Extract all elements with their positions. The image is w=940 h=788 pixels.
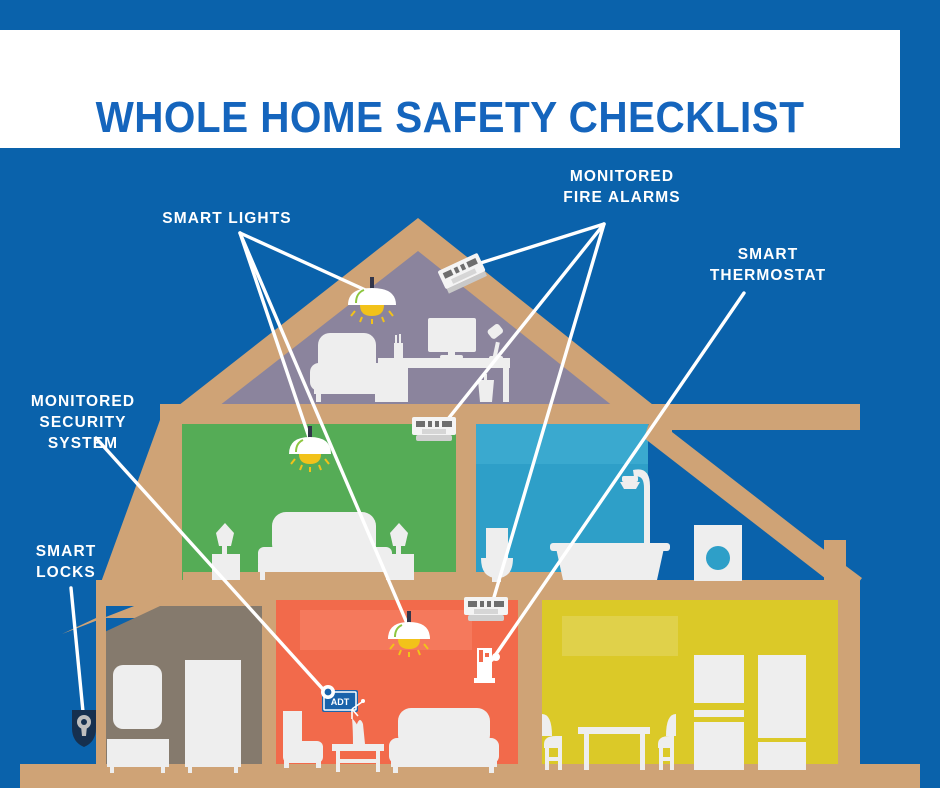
- wall-right-lower: [838, 596, 860, 776]
- garage-dryer: [185, 660, 241, 773]
- living-sofa: [389, 708, 499, 773]
- bathroom-wall-band: [474, 424, 648, 464]
- wall-left-lower: [96, 596, 106, 776]
- garage-washer: [113, 665, 162, 729]
- page-title: WHOLE HOME SAFETY CHECKLIST: [36, 59, 864, 177]
- kitchen-wall-band: [562, 616, 678, 656]
- callout-monitored-fire-alarms: MONITORED FIRE ALARMS: [563, 166, 680, 208]
- callout-monitored-security-system: MONITORED SECURITY SYSTEM: [31, 391, 135, 454]
- smoke-detector-living[interactable]: [464, 597, 508, 621]
- wall-right-upper: [824, 540, 846, 600]
- washing-machine: [694, 525, 742, 581]
- callout-smart-thermostat: SMART THERMOSTAT: [710, 244, 826, 286]
- attic-trash-bin: [478, 380, 494, 402]
- kitchen-oven: [694, 655, 744, 770]
- smoke-detector-bedroom[interactable]: [412, 417, 456, 441]
- wall-living-kitchen: [518, 596, 542, 776]
- security-panel-brand: ADT: [331, 697, 350, 707]
- attic-armchair: [310, 333, 386, 402]
- callout-smart-locks: SMART LOCKS: [36, 541, 97, 583]
- wall-left-upper: [160, 404, 182, 584]
- kitchen-refrigerator: [758, 655, 806, 770]
- bed: [258, 512, 392, 580]
- living-wall-band: [300, 610, 472, 650]
- wall-mid-upper: [456, 424, 476, 582]
- callout-smart-lights: SMART LIGHTS: [162, 208, 291, 229]
